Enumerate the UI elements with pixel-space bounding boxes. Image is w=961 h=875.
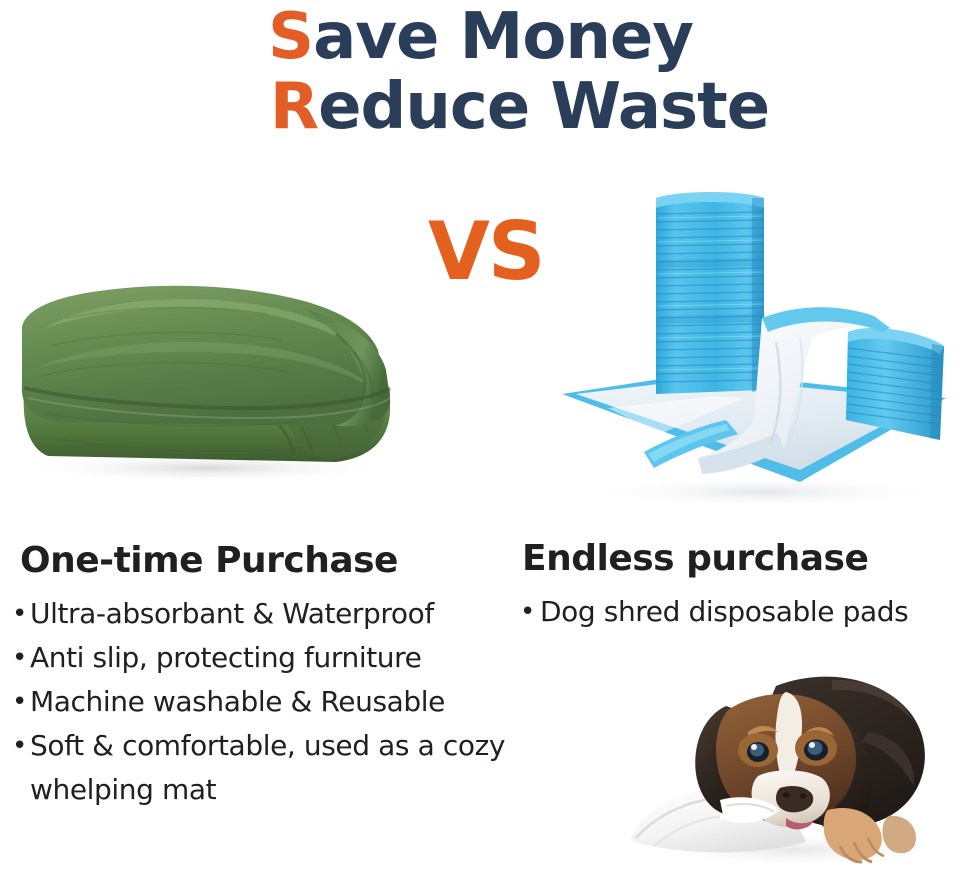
left-column-title: One-time Purchase — [20, 540, 512, 582]
list-item: Dog shred disposable pads — [520, 590, 960, 634]
right-column-title: Endless purchase — [522, 538, 960, 580]
headline-block: Save Money Reduce Waste — [0, 2, 961, 142]
headline-accent-r: R — [270, 70, 318, 144]
list-item: Machine washable & Reusable — [12, 680, 512, 724]
beagle-puppy-image — [600, 640, 961, 875]
headline-line-1-text: ave Money — [313, 0, 693, 74]
infographic-canvas: Save Money Reduce Waste VS — [0, 0, 961, 875]
headline-accent-s: S — [268, 0, 313, 74]
headline-line-1: Save Money — [0, 2, 961, 72]
list-item: Ultra-absorbant & Waterproof — [12, 592, 512, 636]
headline-line-2-text: educe Waste — [318, 70, 769, 144]
green-blanket-image — [6, 272, 406, 484]
blue-pee-pads-image — [548, 182, 960, 512]
left-feature-list: Ultra-absorbant & Waterproof Anti slip, … — [12, 592, 512, 812]
right-comparison-column: Endless purchase Dog shred disposable pa… — [520, 538, 960, 634]
list-item: Anti slip, protecting furniture — [12, 636, 512, 680]
headline-line-2: Reduce Waste — [0, 72, 961, 142]
right-feature-list: Dog shred disposable pads — [520, 590, 960, 634]
versus-label: VS — [428, 212, 544, 292]
left-comparison-column: One-time Purchase Ultra-absorbant & Wate… — [12, 540, 512, 812]
list-item: Soft & comfortable, used as a cozy whelp… — [12, 724, 512, 812]
